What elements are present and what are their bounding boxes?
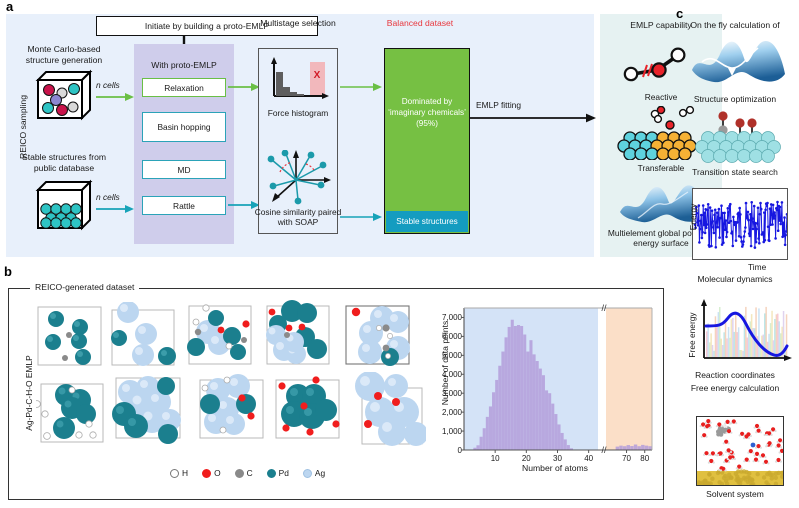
emlp-fitting-label: EMLP fitting — [476, 100, 521, 110]
legend-dot-ag — [303, 469, 312, 478]
structure-cell-6 — [36, 378, 108, 448]
balanced-dataset-main-label: Dominated by ‘imaginary chemicals’ (95%) — [384, 96, 470, 129]
emlp-fitting-arrow-icon — [470, 112, 598, 124]
panel-c-caption-transition-state: Transition state search — [672, 167, 798, 178]
panel-c-caption-structure-optimization: Structure optimization — [672, 94, 798, 105]
panel-c-caption-free-energy: Free energy calculation — [672, 383, 798, 394]
element-legend: H O C Pd Ag — [170, 468, 325, 478]
cosine-similarity-soap-icon — [264, 150, 334, 206]
panel-c-caption-molecular-dynamics: Molecular dynamics — [672, 274, 798, 285]
legend-label-o: O — [214, 468, 221, 478]
panel-a-letter: a — [6, 0, 13, 14]
legend-item-h: H — [170, 468, 188, 478]
solvent-box-icon — [697, 417, 784, 486]
structure-cell-7 — [112, 374, 190, 448]
force-histogram-icon: X — [266, 56, 330, 106]
mc-green-arrow-icon — [96, 92, 136, 102]
stable-structures-band: Stable structures — [386, 211, 468, 232]
legend-dot-o — [202, 469, 211, 478]
svg-text://: // — [601, 303, 607, 313]
balanced-dataset-title: Balanced dataset — [362, 18, 478, 28]
structure-optimization-pes-icon — [688, 34, 790, 92]
sdb-teal-arrow-icon — [96, 204, 136, 214]
structure-cell-1 — [36, 305, 104, 367]
cosine-similarity-caption: Cosine similarity paired with SOAP — [253, 207, 343, 227]
method-box-relaxation[interactable]: Relaxation — [142, 78, 226, 97]
panel-b-letter: b — [4, 264, 12, 279]
relaxation-green-arrow-icon — [228, 82, 262, 92]
method-box-basin-hopping[interactable]: Basin hopping — [142, 112, 226, 142]
structure-cell-9 — [272, 374, 348, 448]
panel-c-caption-solvent: Solvent system — [672, 489, 798, 500]
method-box-md[interactable]: MD — [142, 160, 226, 179]
mixed-atoms-cube-icon — [32, 66, 94, 122]
stacked-atoms-cube-icon — [32, 176, 94, 232]
structure-cell-2 — [110, 302, 178, 368]
legend-dot-h — [170, 469, 179, 478]
legend-dot-c — [235, 469, 244, 478]
solvent-system-plot — [696, 416, 784, 486]
panel-c-title: On the fly calculation of — [672, 20, 798, 30]
legend-item-c: C — [235, 468, 253, 478]
balanced-dataset-box — [384, 48, 470, 234]
legend-item-o: O — [202, 468, 221, 478]
legend-label-ag: Ag — [315, 468, 325, 478]
multistage-green-arrow-icon — [340, 82, 384, 92]
reico-generated-dataset-label: REICO-generated dataset — [30, 282, 139, 292]
mc-n-cells-label: n cells — [96, 80, 120, 90]
molecular-dynamics-plot — [692, 188, 788, 260]
multistage-teal-arrow-icon — [340, 212, 384, 222]
legend-label-pd: Pd — [279, 468, 289, 478]
legend-label-h: H — [182, 468, 188, 478]
structure-cell-10 — [348, 372, 426, 448]
legend-item-ag: Ag — [303, 468, 325, 478]
with-proto-emlp-label: With proto-EMLP — [134, 60, 234, 70]
monte-carlo-source-title: Monte Carlo-based structure generation — [16, 44, 112, 66]
histogram-plot-area: //// — [430, 300, 660, 462]
panel-c-letter: c — [676, 6, 683, 21]
legend-item-pd: Pd — [267, 468, 289, 478]
svg-text:X: X — [314, 70, 321, 81]
structure-cell-5 — [340, 300, 420, 368]
atoms-histogram: Number of data points Number of atoms 01… — [430, 300, 660, 485]
svg-text://: // — [601, 445, 607, 455]
transition-state-search-icon — [690, 108, 790, 164]
legend-label-c: C — [247, 468, 253, 478]
md-trace-icon — [693, 189, 788, 260]
structure-cell-3 — [186, 302, 256, 368]
free-energy-icon — [694, 298, 794, 370]
multistage-selection-title: Multistage selection — [254, 18, 342, 29]
md-x-axis-label: Time — [748, 262, 794, 272]
stable-structures-source-title: Stable structures from public database — [16, 152, 112, 174]
ag-pd-c-h-o-emlp-label: Ag-Pd-C-H-O EMLP — [24, 338, 34, 448]
structure-cell-4 — [262, 300, 336, 368]
md-y-axis-label: Energy — [688, 184, 698, 250]
panel-c-label-reaction-coordinates: Reaction coordinates — [672, 370, 798, 381]
method-box-rattle[interactable]: Rattle — [142, 196, 226, 215]
force-histogram-caption: Force histogram — [253, 108, 343, 118]
legend-dot-pd — [267, 469, 276, 478]
structure-cell-8 — [196, 374, 272, 448]
sdb-n-cells-label: n cells — [96, 192, 120, 202]
